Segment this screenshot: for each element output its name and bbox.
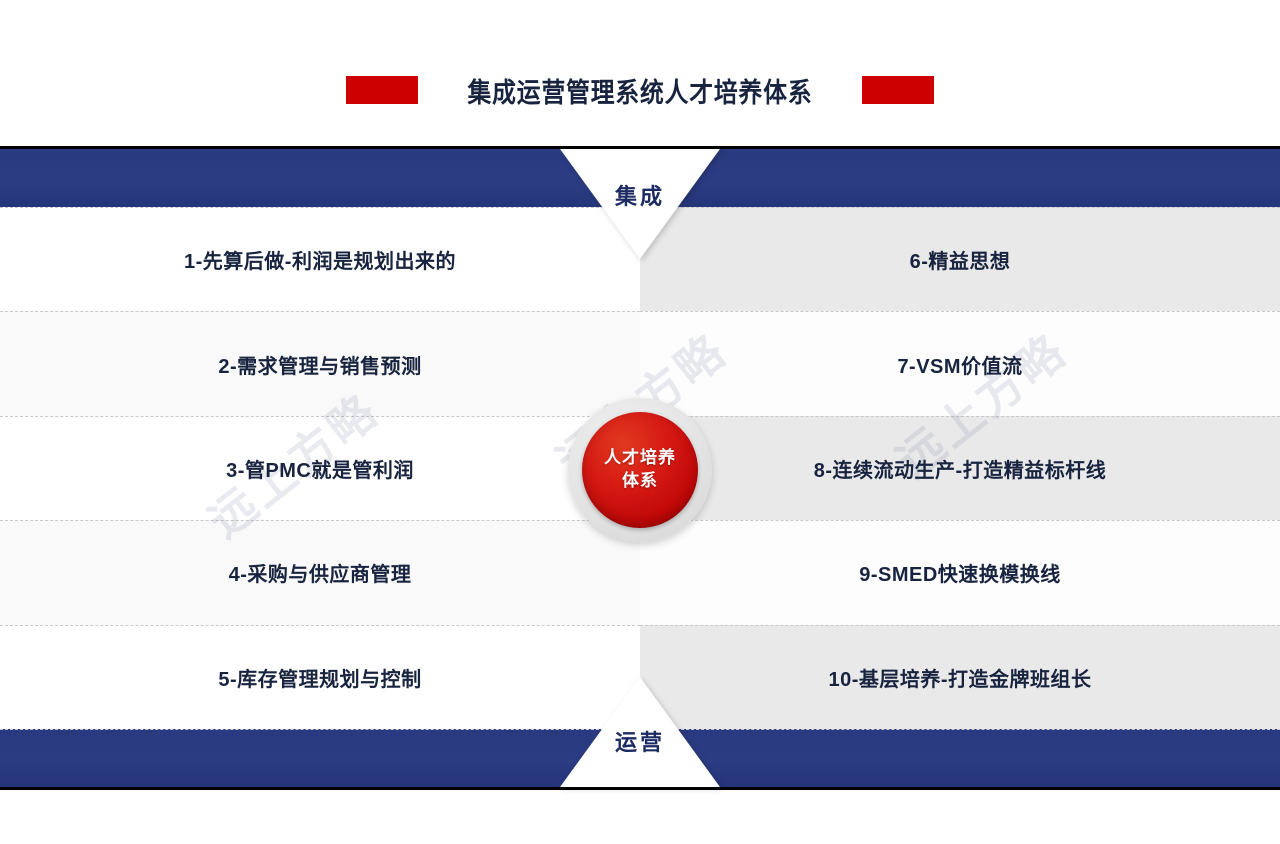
left-column: 1-先算后做-利润是规划出来的 2-需求管理与销售预测 3-管PMC就是管利润 …	[0, 207, 640, 729]
left-item-label: 3-管PMC就是管利润	[226, 454, 414, 483]
list-item[interactable]: 2-需求管理与销售预测	[0, 311, 640, 415]
page-title: 集成运营管理系统人才培养体系	[468, 71, 813, 110]
right-item-label: 10-基层培养-打造金牌班组长	[828, 663, 1091, 692]
bottom-node-label: 运营	[560, 725, 720, 757]
right-item-label: 9-SMED快速换模换线	[859, 558, 1061, 587]
left-item-label: 2-需求管理与销售预测	[218, 350, 421, 379]
bottom-node[interactable]: 运营	[560, 677, 720, 787]
top-node-label: 集成	[560, 179, 720, 211]
list-item[interactable]: 10-基层培养-打造金牌班组长	[640, 625, 1280, 729]
right-item-label: 8-连续流动生产-打造精益标杆线	[814, 454, 1106, 483]
list-item[interactable]: 6-精益思想	[640, 207, 1280, 311]
list-item[interactable]: 9-SMED快速换模换线	[640, 520, 1280, 624]
center-node[interactable]: 人才培养 体系	[568, 398, 712, 542]
right-item-label: 6-精益思想	[910, 245, 1011, 274]
page-title-area: 集成运营管理系统人才培养体系	[0, 60, 1280, 120]
title-accent-bar-left	[346, 76, 418, 104]
right-column: 6-精益思想 7-VSM价值流 8-连续流动生产-打造精益标杆线 9-SMED快…	[640, 207, 1280, 729]
center-node-disc: 人才培养 体系	[582, 412, 698, 528]
left-item-label: 5-库存管理规划与控制	[218, 663, 421, 692]
list-item[interactable]: 8-连续流动生产-打造精益标杆线	[640, 416, 1280, 520]
right-item-label: 7-VSM价值流	[897, 350, 1022, 379]
list-item[interactable]: 4-采购与供应商管理	[0, 520, 640, 624]
top-node[interactable]: 集成	[560, 149, 720, 259]
center-node-label: 人才培养 体系	[604, 447, 676, 493]
list-item[interactable]: 3-管PMC就是管利润	[0, 416, 640, 520]
list-item[interactable]: 5-库存管理规划与控制	[0, 625, 640, 729]
center-node-line2: 体系	[622, 471, 658, 490]
list-item[interactable]: 1-先算后做-利润是规划出来的	[0, 207, 640, 311]
center-node-line1: 人才培养	[604, 448, 676, 467]
title-accent-bar-right	[862, 76, 934, 104]
left-item-label: 4-采购与供应商管理	[229, 558, 412, 587]
left-item-label: 1-先算后做-利润是规划出来的	[184, 245, 456, 274]
list-item[interactable]: 7-VSM价值流	[640, 311, 1280, 415]
